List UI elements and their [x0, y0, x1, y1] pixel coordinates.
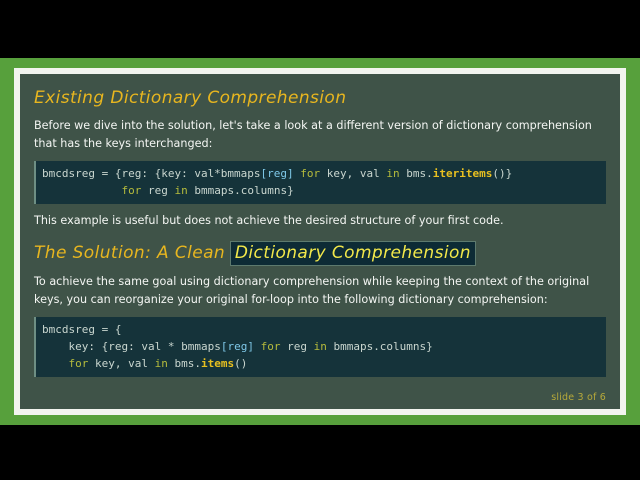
- slide-green-frame: Existing Dictionary Comprehension Before…: [0, 58, 640, 425]
- code-text: reg: [148, 184, 168, 197]
- code-text: key: {reg: val * bmmaps: [69, 340, 221, 353]
- code-indent: [42, 184, 121, 197]
- screen: Existing Dictionary Comprehension Before…: [0, 0, 640, 480]
- code-text: ()}: [492, 167, 512, 180]
- code-keyword: in: [148, 357, 175, 370]
- code-keyword: for: [69, 357, 96, 370]
- code-function: items: [201, 357, 234, 370]
- code-bracket: [reg]: [221, 340, 254, 353]
- code-indent: [42, 357, 69, 370]
- code-text: bms.: [406, 167, 433, 180]
- code-text: key, val: [95, 357, 148, 370]
- section-two-paragraph: To achieve the same goal using dictionar…: [34, 273, 594, 309]
- slide-number-footer: slide 3 of 6: [551, 392, 606, 403]
- section-two-heading: The Solution: A Clean Dictionary Compreh…: [34, 243, 606, 263]
- code-keyword: for: [254, 340, 287, 353]
- code-keyword: in: [380, 167, 407, 180]
- code-keyword: for: [121, 184, 148, 197]
- code-keyword: in: [168, 184, 195, 197]
- code-indent: [42, 340, 69, 353]
- code-keyword: in: [307, 340, 334, 353]
- section-two-heading-plain: The Solution: A Clean: [34, 243, 231, 263]
- code-text: bms.: [174, 357, 201, 370]
- section-one-closing-paragraph: This example is useful but does not achi…: [34, 212, 594, 230]
- code-text: bmcdsreg = {: [42, 323, 121, 336]
- code-text: (): [234, 357, 247, 370]
- slide-content-area: Existing Dictionary Comprehension Before…: [20, 74, 620, 409]
- code-text: bmmaps.columns}: [194, 184, 293, 197]
- code-text: reg: [287, 340, 307, 353]
- section-one-heading: Existing Dictionary Comprehension: [34, 88, 606, 108]
- code-text: key, val: [327, 167, 380, 180]
- code-bracket: [reg]: [261, 167, 294, 180]
- section-one-paragraph: Before we dive into the solution, let's …: [34, 117, 594, 153]
- code-function: iteritems: [433, 167, 493, 180]
- code-block-solution-comprehension: bmcdsreg = { key: {reg: val * bmmaps[reg…: [34, 317, 606, 377]
- slide-white-border: Existing Dictionary Comprehension Before…: [14, 68, 626, 415]
- code-text: bmcdsreg = {reg: {key: val*bmmaps: [42, 167, 261, 180]
- code-keyword: for: [294, 167, 327, 180]
- code-text: bmmaps.columns}: [333, 340, 432, 353]
- section-two-heading-highlight: Dictionary Comprehension: [231, 242, 475, 265]
- code-block-existing-comprehension: bmcdsreg = {reg: {key: val*bmmaps[reg] f…: [34, 161, 606, 204]
